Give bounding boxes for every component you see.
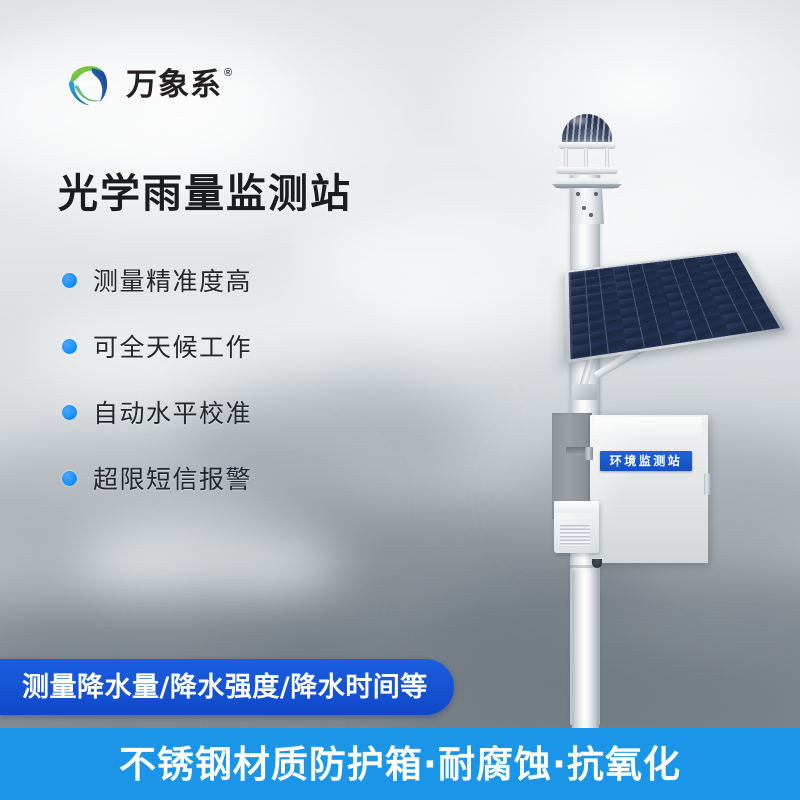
solar-panel-frame <box>565 251 786 363</box>
solar-panel-icon <box>566 218 766 393</box>
feature-item-3: 超限短信报警 <box>62 460 252 496</box>
cabinet-label-text: 环境监测站 <box>610 455 683 467</box>
feature-label: 自动水平校准 <box>93 394 252 430</box>
feature-label: 测量精准度高 <box>93 262 252 298</box>
sensor-mid-plate <box>556 167 618 174</box>
sensor-screw <box>582 206 586 210</box>
blue-dot-icon <box>62 471 77 486</box>
brand-name: 万象系 <box>126 70 222 101</box>
blue-dot-icon <box>62 339 77 354</box>
cabinet-latch <box>704 473 711 495</box>
cabinet-hinge <box>585 447 593 460</box>
optical-rain-sensor-icon <box>548 112 626 222</box>
sensor-screw <box>594 192 598 196</box>
enclosure-cabinet-icon: 环境监测站 <box>552 413 712 565</box>
cabinet-foot <box>592 559 602 568</box>
footer-banner-text: 不锈钢材质防护箱·耐腐蚀·抗氧化 <box>119 746 681 783</box>
feature-list: 测量精准度高可全天候工作自动水平校准超限短信报警 <box>62 262 252 526</box>
capability-banner: 测量降水量/降水强度/降水时间等 <box>0 659 454 715</box>
sensor-skirt-edge <box>552 184 622 188</box>
cabinet-nameplate: 环境监测站 <box>600 451 692 471</box>
registered-mark: ® <box>224 67 232 79</box>
solar-cell-grid <box>569 253 780 360</box>
sensor-dome-highlight <box>570 116 586 125</box>
sensor-screw <box>576 192 580 196</box>
brand-logo: 万象系 ® <box>60 58 232 113</box>
globe-swirl-logo-icon <box>60 58 115 113</box>
mast-pole-lower <box>572 570 599 728</box>
product-poster: 环境监测站 <box>0 0 800 800</box>
feature-item-2: 自动水平校准 <box>62 394 252 430</box>
blue-dot-icon <box>62 273 77 288</box>
feature-item-1: 可全天候工作 <box>62 328 252 364</box>
feature-item-0: 测量精准度高 <box>62 262 252 298</box>
footer-banner: 不锈钢材质防护箱·耐腐蚀·抗氧化 <box>0 728 800 800</box>
feature-label: 超限短信报警 <box>93 460 252 496</box>
vented-box-top <box>554 501 599 513</box>
sensor-screw <box>589 213 593 217</box>
feature-label: 可全天候工作 <box>93 328 252 364</box>
blue-dot-icon <box>62 405 77 420</box>
sensor-post <box>584 148 588 168</box>
sensor-post <box>564 148 568 168</box>
vent-louvers-icon <box>560 525 590 547</box>
cabinet-door-highlight <box>594 417 702 439</box>
sensor-post <box>605 148 609 168</box>
capability-banner-text: 测量降水量/降水强度/降水时间等 <box>22 674 428 701</box>
page-title: 光学雨量监测站 <box>58 172 352 216</box>
